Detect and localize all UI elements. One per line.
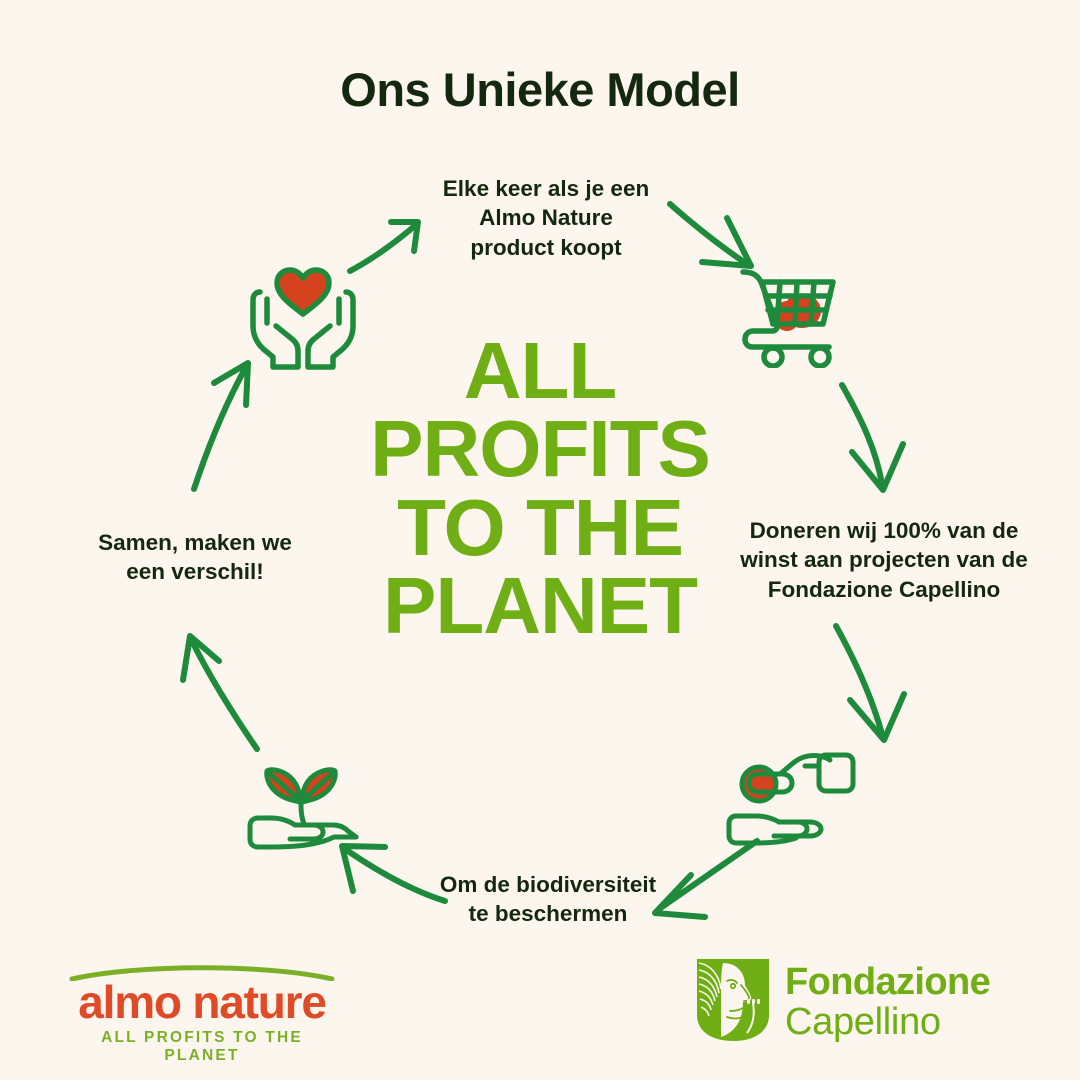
caption-purchase-line-1: Elke keer als je een [386, 174, 706, 203]
fondazione-capellino-face-icon [697, 959, 769, 1046]
caption-together-line-2: een verschil! [45, 557, 345, 586]
almo-nature-tagline: ALL PROFITS TO THE PLANET [68, 1029, 336, 1065]
flow-arrow-3 [830, 380, 935, 505]
headline-line-1: ALL [330, 332, 750, 410]
headline-line-4: PLANET [330, 567, 750, 645]
fondazione-capellino-wordmark: Fondazione Capellino [785, 963, 990, 1041]
flow-arrow-5 [645, 835, 765, 925]
flow-arrow-7 [175, 625, 275, 755]
center-headline: ALL PROFITS TO THE PLANET [330, 332, 750, 646]
caption-donate-line-3: Fondazione Capellino [714, 575, 1054, 604]
flow-arrow-4 [820, 620, 930, 755]
page-title: Ons Unieke Model [0, 62, 1080, 117]
almo-nature-logo[interactable]: almo nature ALL PROFITS TO THE PLANET [68, 963, 336, 1045]
headline-line-2: PROFITS [330, 410, 750, 488]
fondazione-line-2: Capellino [785, 1003, 990, 1041]
hand-giving-coin-icon [722, 742, 857, 847]
flow-arrow-8 [180, 355, 280, 495]
caption-together-line-1: Samen, maken we [45, 528, 345, 557]
flow-arrow-6 [335, 835, 450, 920]
fondazione-line-1: Fondazione [785, 963, 990, 1001]
almo-nature-wordmark: almo nature [68, 979, 336, 1026]
flow-arrow-1 [345, 205, 435, 285]
fondazione-capellino-logo[interactable]: Fondazione Capellino [697, 958, 1027, 1046]
hand-holding-plant-icon [238, 740, 368, 850]
caption-donate-line-1: Doneren wij 100% van de [714, 516, 1054, 545]
caption-together: Samen, maken we een verschil! [45, 528, 345, 587]
infographic-canvas: Ons Unieke Model ALL PROFITS TO THE PLAN… [0, 0, 1080, 1080]
caption-donate: Doneren wij 100% van de winst aan projec… [714, 516, 1054, 604]
headline-line-3: TO THE [330, 489, 750, 567]
flow-arrow-2 [665, 190, 775, 280]
caption-donate-line-2: winst aan projecten van de [714, 545, 1054, 574]
